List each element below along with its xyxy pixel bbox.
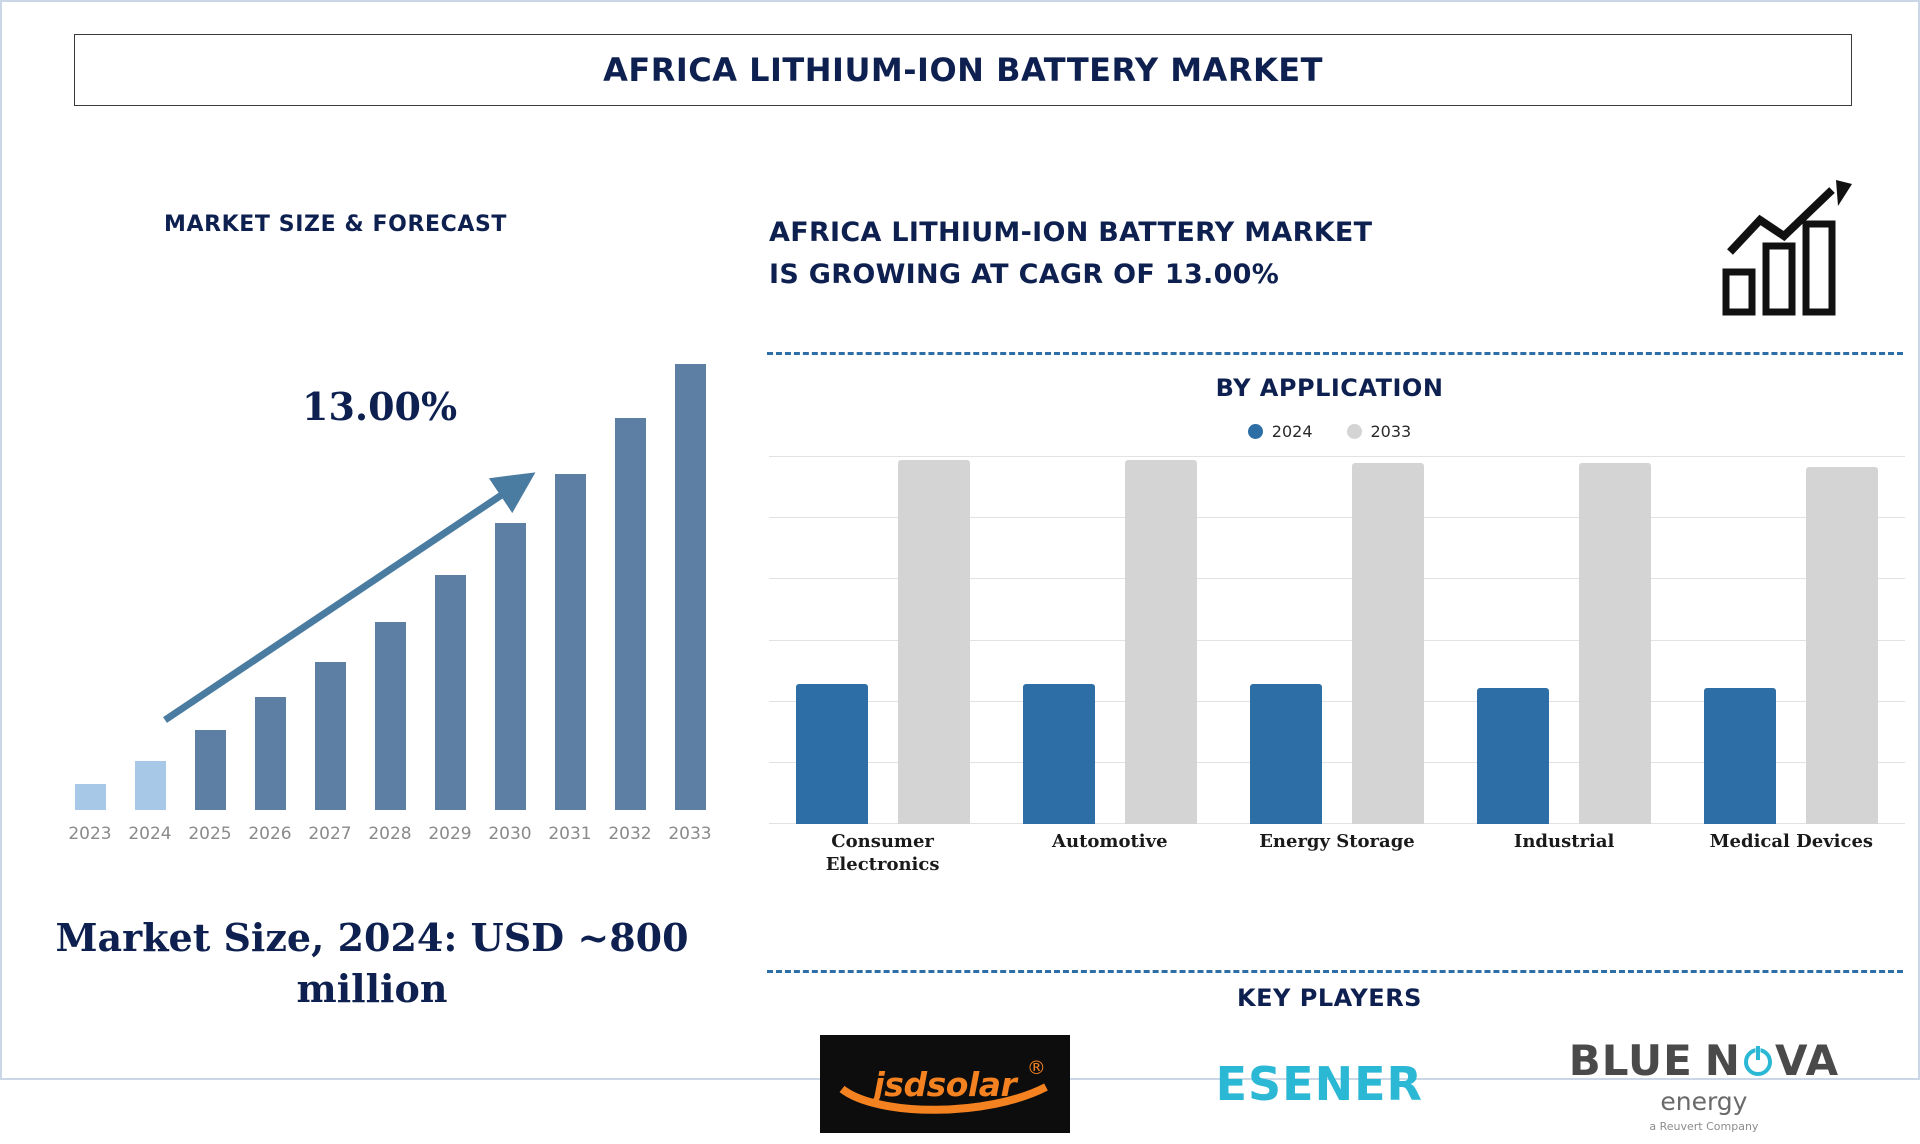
by-application-title: BY APPLICATION (747, 374, 1912, 402)
power-symbol-icon (1741, 1043, 1775, 1077)
forecast-bar-2024 (135, 761, 166, 810)
page-title: AFRICA LITHIUM-ION BATTERY MARKET (603, 51, 1323, 89)
bar-group-automotive (1010, 456, 1210, 824)
market-size-forecast-chart: 2023 2024 2025 2026 2027 2028 2029 2030 … (50, 312, 730, 872)
category-label: Industrial (1464, 830, 1664, 877)
legend-dot-icon (1248, 424, 1263, 439)
bluenova-tagline: a Reuvert Company (1569, 1120, 1839, 1133)
bar-chart-growth-icon (1720, 174, 1870, 324)
category-label: Medical Devices (1691, 830, 1891, 877)
forecast-column (360, 340, 420, 810)
bluenova-n: N (1705, 1036, 1741, 1085)
bluenova-blue-text: BLUE (1569, 1036, 1693, 1085)
forecast-bar-2023 (75, 784, 106, 810)
forecast-label: 2025 (180, 824, 240, 844)
forecast-bar-2031 (555, 474, 586, 810)
forecast-label: 2028 (360, 824, 420, 844)
forecast-bar-2032 (615, 418, 646, 810)
category-label: Automotive (1010, 830, 1210, 877)
bar-2024 (796, 684, 868, 824)
infographic-page: AFRICA LITHIUM-ION BATTERY MARKET MARKET… (0, 0, 1920, 1080)
forecast-column (240, 340, 300, 810)
bar-2024 (1704, 688, 1776, 824)
forecast-label: 2024 (120, 824, 180, 844)
jsdsolar-logo-text: jsdsolar (874, 1065, 1017, 1104)
key-players-logos: jsdsolar ® ESENER BLUE N VA (747, 1024, 1912, 1144)
legend-label: 2024 (1272, 422, 1313, 441)
bar-2024 (1023, 684, 1095, 824)
forecast-column (60, 340, 120, 810)
forecast-label: 2027 (300, 824, 360, 844)
by-application-bar-groups (769, 456, 1905, 824)
forecast-column (540, 340, 600, 810)
forecast-label: 2032 (600, 824, 660, 844)
legend-item-2033: 2033 (1347, 422, 1412, 441)
category-label: Energy Storage (1237, 830, 1437, 877)
jsdsolar-logo: jsdsolar ® (820, 1035, 1070, 1133)
bar-2024 (1477, 688, 1549, 824)
market-size-forecast-panel: MARKET SIZE & FORECAST 13.00% 2023 2024 … (2, 112, 742, 1062)
page-title-box: AFRICA LITHIUM-ION BATTERY MARKET (74, 34, 1852, 106)
bar-2033 (1806, 467, 1878, 824)
legend-item-2024: 2024 (1248, 422, 1313, 441)
forecast-axis-labels: 2023 2024 2025 2026 2027 2028 2029 2030 … (60, 824, 720, 844)
bluenova-nova-text: N VA (1705, 1036, 1839, 1085)
forecast-label: 2033 (660, 824, 720, 844)
bar-2033 (1352, 463, 1424, 824)
bar-group-medical-devices (1691, 456, 1891, 824)
forecast-column (120, 340, 180, 810)
forecast-column (420, 340, 480, 810)
bluenova-logo-main: BLUE N VA (1569, 1036, 1839, 1085)
divider-bottom (767, 970, 1903, 973)
forecast-label: 2023 (60, 824, 120, 844)
bar-2024 (1250, 684, 1322, 824)
bar-2033 (1579, 463, 1651, 824)
forecast-bar-2029 (435, 575, 466, 810)
forecast-column (480, 340, 540, 810)
forecast-bar-2027 (315, 662, 346, 810)
forecast-bar-2025 (195, 730, 226, 810)
forecast-column (180, 340, 240, 810)
bar-2033 (898, 460, 970, 824)
bluenova-logo: BLUE N VA energy a Reuvert Company (1569, 1036, 1839, 1133)
forecast-label: 2029 (420, 824, 480, 844)
forecast-bar-2028 (375, 622, 406, 810)
by-application-legend: 2024 2033 (747, 422, 1912, 441)
esener-logo: ESENER (1216, 1057, 1423, 1111)
forecast-bars (60, 340, 720, 810)
bluenova-va: VA (1775, 1036, 1839, 1085)
market-size-forecast-heading: MARKET SIZE & FORECAST (164, 212, 507, 237)
forecast-label: 2026 (240, 824, 300, 844)
growth-headline: AFRICA LITHIUM-ION BATTERY MARKET IS GRO… (769, 212, 1669, 296)
by-application-chart: Consumer Electronics Automotive Energy S… (769, 456, 1905, 896)
forecast-column (300, 340, 360, 810)
bar-group-energy-storage (1237, 456, 1437, 824)
forecast-bar-2030 (495, 523, 526, 810)
application-panel: AFRICA LITHIUM-ION BATTERY MARKET IS GRO… (747, 112, 1912, 1062)
divider-top (767, 352, 1903, 355)
market-size-2024-value: Market Size, 2024: USD ~800 million (52, 912, 692, 1015)
growth-headline-line1: AFRICA LITHIUM-ION BATTERY MARKET (769, 212, 1669, 254)
growth-headline-line2: IS GROWING AT CAGR OF 13.00% (769, 254, 1669, 296)
bar-group-industrial (1464, 456, 1664, 824)
forecast-column (660, 340, 720, 810)
legend-label: 2033 (1371, 422, 1412, 441)
forecast-label: 2030 (480, 824, 540, 844)
forecast-bar-2026 (255, 697, 286, 810)
forecast-column (600, 340, 660, 810)
forecast-bar-2033 (675, 364, 706, 811)
legend-dot-icon (1347, 424, 1362, 439)
bar-group-consumer-electronics (783, 456, 983, 824)
bar-2033 (1125, 460, 1197, 824)
by-application-category-labels: Consumer Electronics Automotive Energy S… (769, 830, 1905, 877)
bluenova-energy-text: energy (1569, 1087, 1839, 1116)
category-label: Consumer Electronics (783, 830, 983, 877)
forecast-label: 2031 (540, 824, 600, 844)
registered-trademark-icon: ® (1027, 1057, 1046, 1079)
key-players-title: KEY PLAYERS (747, 984, 1912, 1012)
